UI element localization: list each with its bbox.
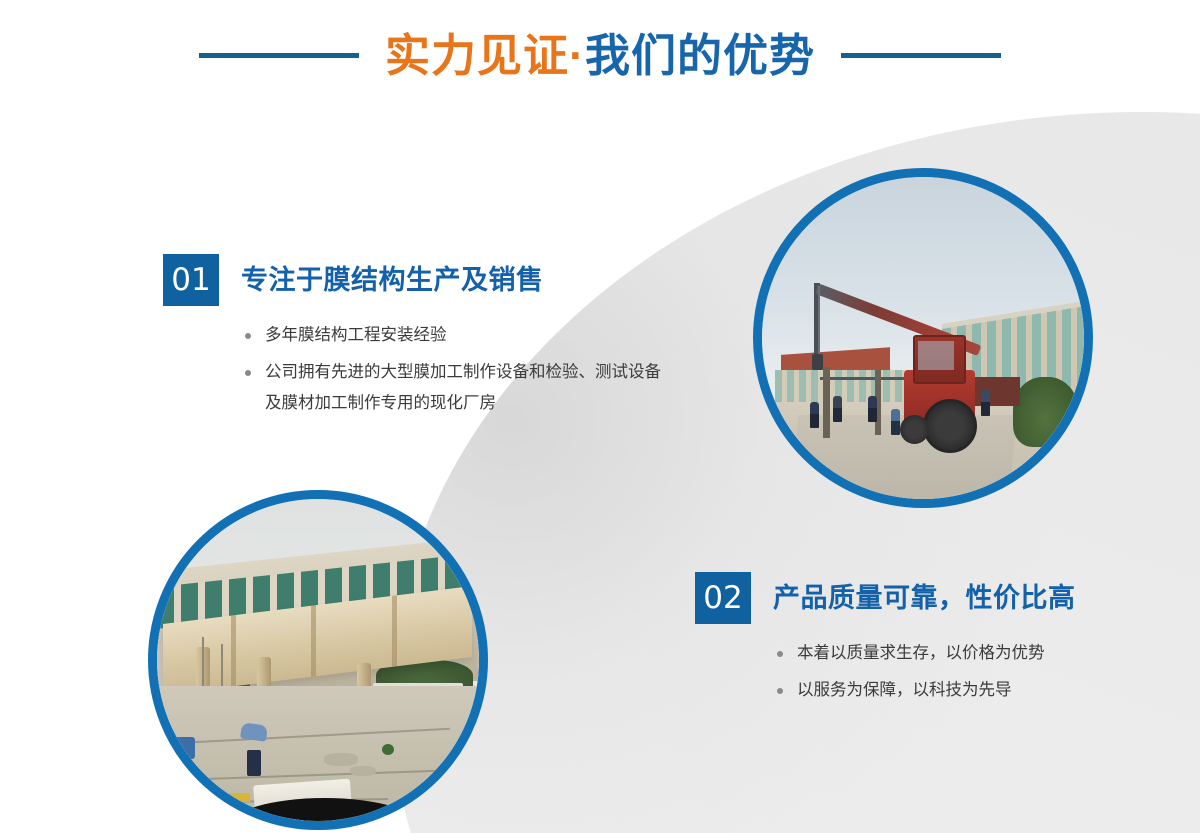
feature-block-01: 01 专注于膜结构生产及销售 多年膜结构工程安装经验 公司拥有先进的大型膜加工制… xyxy=(163,254,693,425)
feature-01-title: 专注于膜结构生产及销售 xyxy=(241,254,544,306)
header-rule-right xyxy=(841,53,1001,58)
header-rule-left xyxy=(199,53,359,58)
tractor-windshield xyxy=(918,341,953,370)
list-item: 本着以质量求生存，以价格为优势 xyxy=(773,638,1173,669)
membrane-carport-photo xyxy=(148,490,488,830)
list-item: 多年膜结构工程安装经验 xyxy=(241,320,661,351)
photo-inner-crane xyxy=(762,177,1084,499)
blue-barrel xyxy=(173,737,195,759)
yellow-floor-marker xyxy=(228,793,250,802)
site-worker xyxy=(981,390,990,416)
page-header: 实力见证·我们的优势 xyxy=(0,0,1200,110)
feature-02-number-badge: 02 xyxy=(695,572,751,624)
feature-02-title: 产品质量可靠，性价比高 xyxy=(773,572,1076,624)
ground-debris xyxy=(350,766,376,776)
page-title: 实力见证·我们的优势 xyxy=(385,33,815,78)
photo-inner-canopy xyxy=(157,499,479,821)
bending-worker-legs xyxy=(247,750,261,776)
feature-02-head: 02 产品质量可靠，性价比高 xyxy=(695,572,1165,624)
canopy-rib xyxy=(231,615,236,686)
utility-pole-left xyxy=(823,367,830,438)
feature-02-bullet-list: 本着以质量求生存，以价格为优势 以服务为保障，以科技为先导 xyxy=(773,638,1173,706)
page-title-orange: 实力见证 xyxy=(385,30,569,81)
feature-01-head: 01 专注于膜结构生产及销售 xyxy=(163,254,693,306)
canopy-rib xyxy=(392,596,397,667)
tractor-trailer xyxy=(968,377,1020,406)
site-worker xyxy=(833,396,842,422)
site-worker xyxy=(810,402,819,428)
crane-hook xyxy=(812,354,823,370)
promo-page: 实力见证·我们的优势 xyxy=(0,0,1200,833)
feature-01-number-badge: 01 xyxy=(163,254,219,306)
site-fence xyxy=(820,377,904,380)
roadside-bush xyxy=(1013,377,1077,448)
page-title-separator: · xyxy=(569,30,585,81)
crane-cable xyxy=(818,286,820,357)
list-item: 以服务为保障，以科技为先导 xyxy=(773,675,1173,706)
canopy-rib xyxy=(312,605,317,676)
construction-crane-tractor-photo xyxy=(753,168,1093,508)
site-worker xyxy=(868,396,877,422)
page-title-blue: 我们的优势 xyxy=(585,30,815,81)
feature-block-02: 02 产品质量可靠，性价比高 本着以质量求生存，以价格为优势 以服务为保障，以科… xyxy=(695,572,1165,712)
feature-01-bullet-list: 多年膜结构工程安装经验 公司拥有先进的大型膜加工制作设备和检验、测试设备及膜材加… xyxy=(241,320,661,419)
ground-debris xyxy=(324,753,358,766)
site-worker xyxy=(891,409,900,435)
list-item: 公司拥有先进的大型膜加工制作设备和检验、测试设备及膜材加工制作专用的现化厂房 xyxy=(241,357,661,419)
